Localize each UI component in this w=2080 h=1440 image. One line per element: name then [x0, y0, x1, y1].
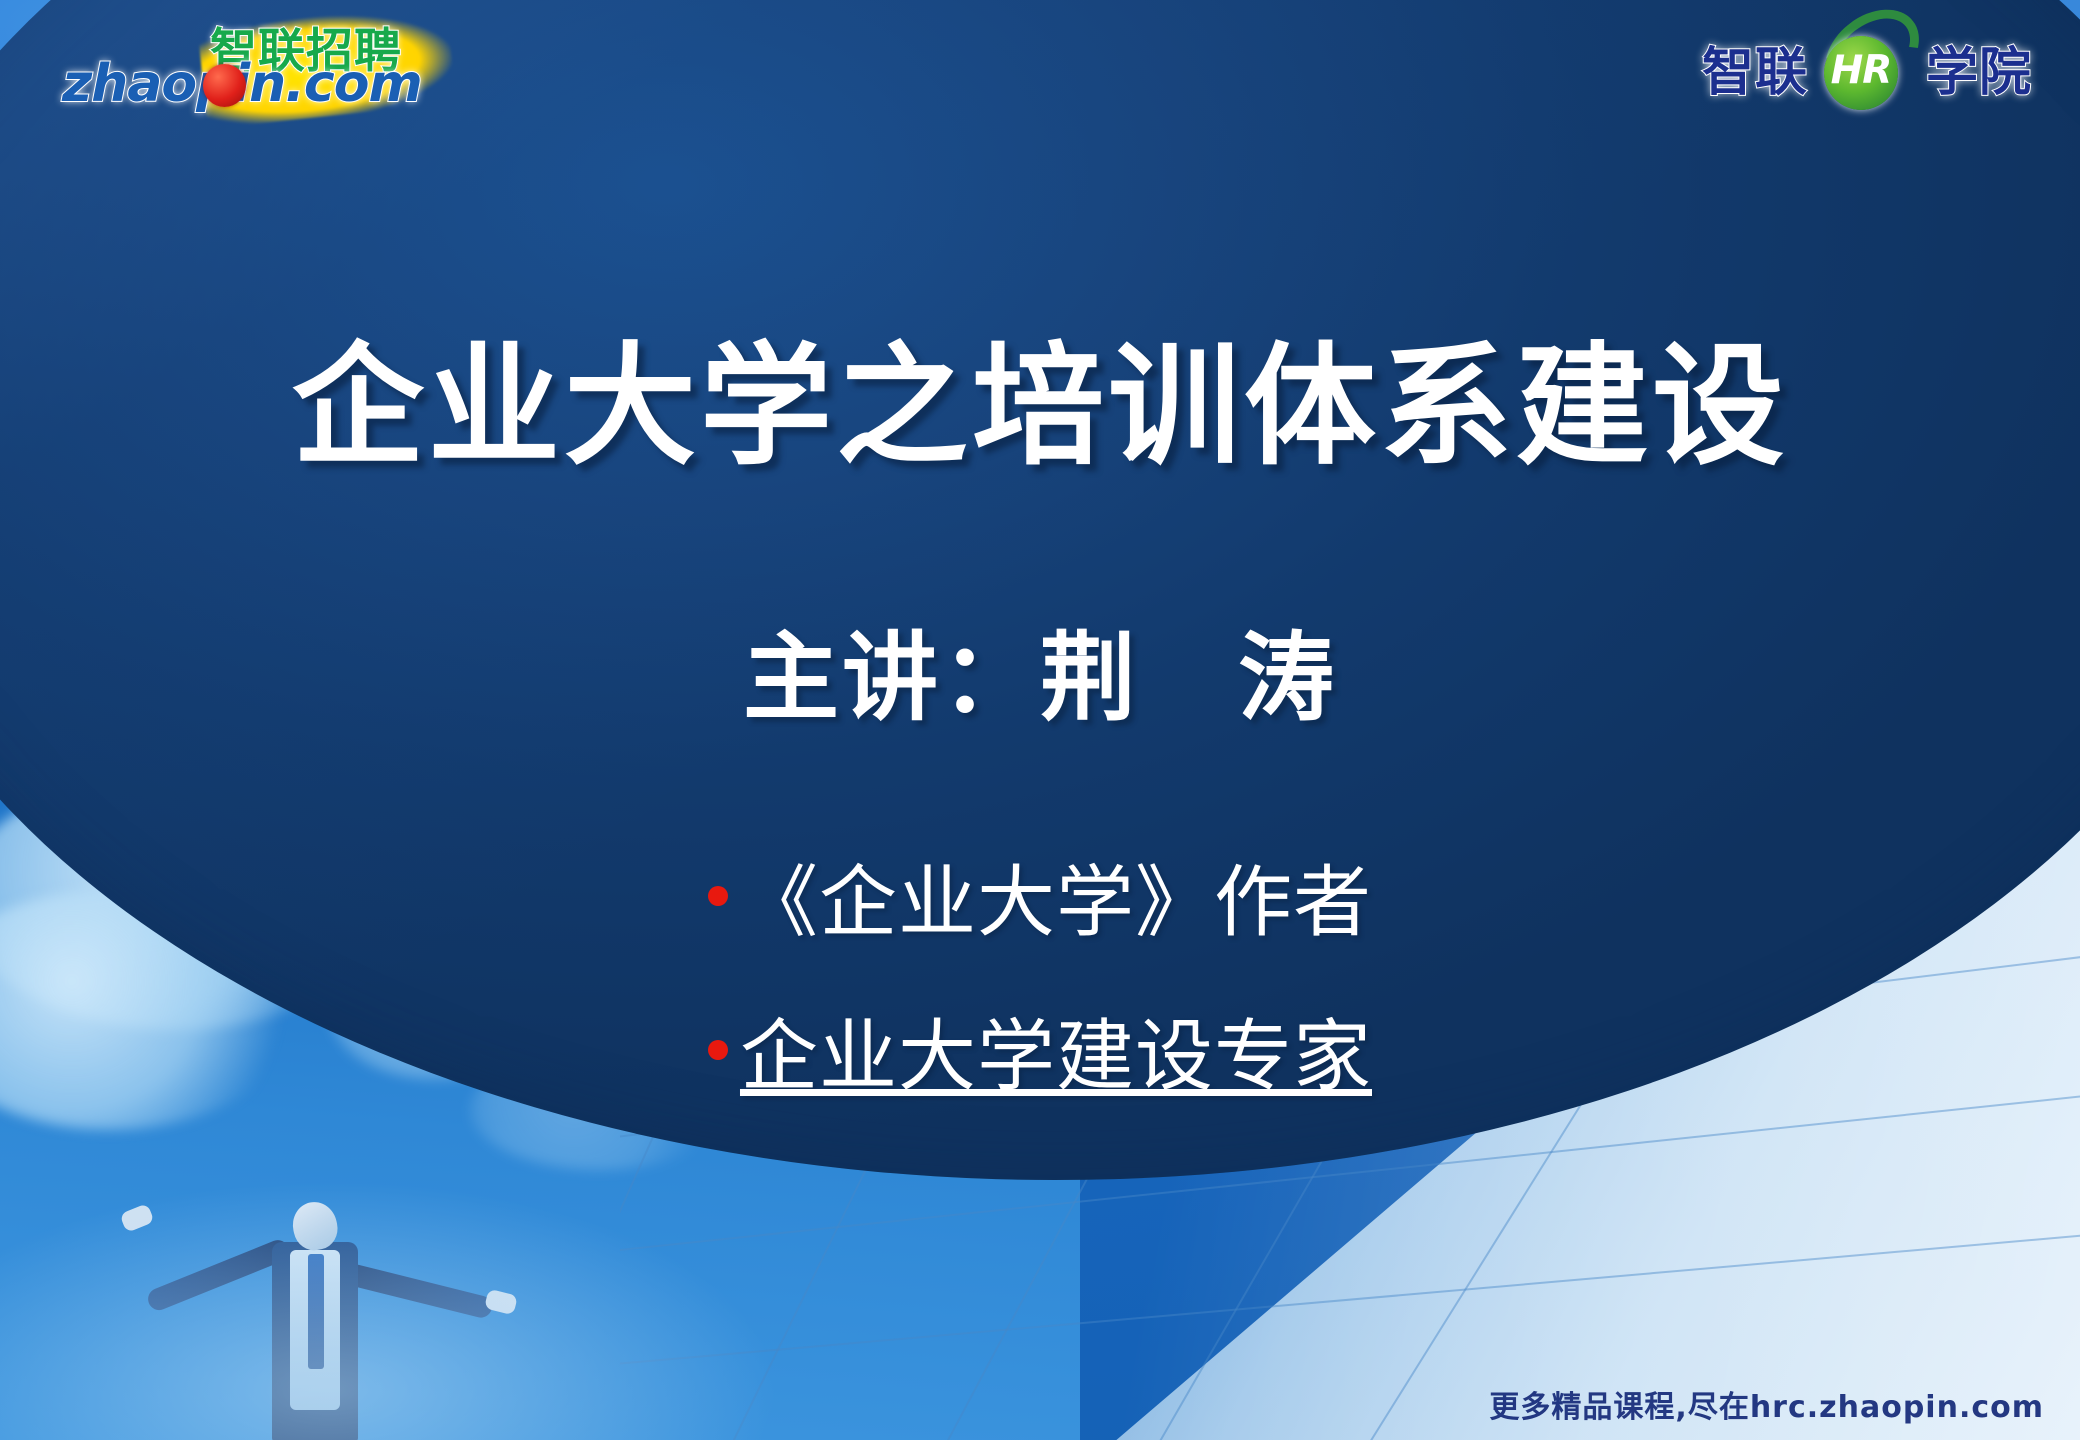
- list-item-label: 《企业大学》作者: [740, 840, 1372, 952]
- list-item: 《企业大学》作者: [708, 840, 1372, 952]
- hr-academy-label-right: 学院: [1926, 30, 2032, 105]
- credentials-list: 《企业大学》作者 企业大学建设专家: [0, 840, 2080, 1106]
- bullet-dot-icon: [708, 1040, 728, 1060]
- hr-badge-label: HR: [1824, 48, 1898, 93]
- list-item-label: 企业大学建设专家: [740, 994, 1372, 1106]
- hr-academy-label-left: 智联: [1702, 30, 1808, 105]
- presentation-slide: 智联招聘 zhaopin.com 智联 HR 学院 企业大学之培训体系建设 主讲…: [0, 0, 2080, 1440]
- bullet-dot-icon: [708, 886, 728, 906]
- red-dot-icon: [203, 64, 246, 107]
- slide-title: 企业大学之培训体系建设: [0, 300, 2080, 491]
- list-item: 企业大学建设专家: [708, 994, 1372, 1106]
- zhaopin-logo[interactable]: 智联招聘 zhaopin.com: [62, 10, 422, 118]
- corner-glow: [0, 1180, 780, 1440]
- zhilian-hr-academy-logo[interactable]: 智联 HR 学院: [1702, 22, 2032, 108]
- footer-promo-text: 更多精品课程,尽在hrc.zhaopin.com: [1489, 1382, 2044, 1426]
- speaker-line: 主讲：荆 涛: [0, 600, 2080, 739]
